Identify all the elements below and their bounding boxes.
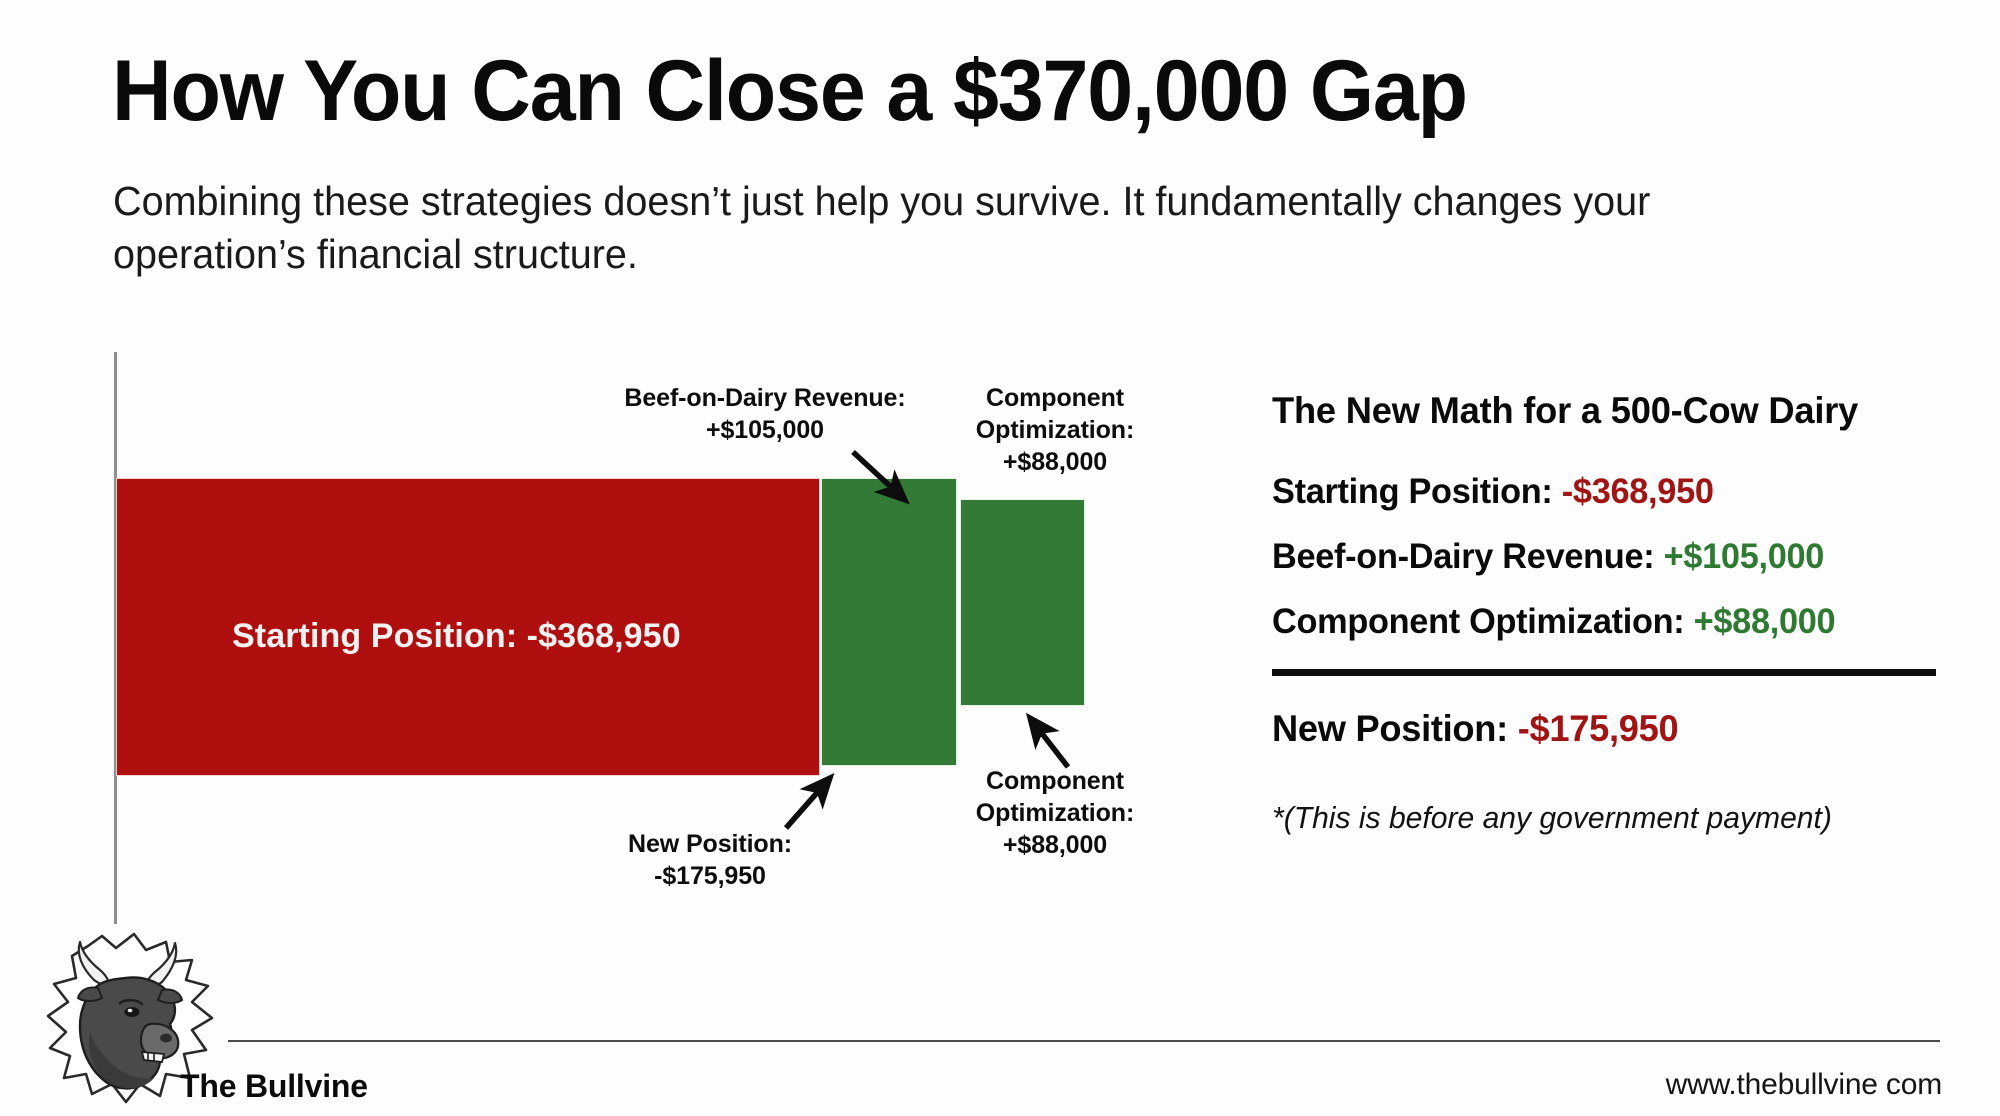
arrow-new-position-icon — [786, 778, 830, 828]
bar-beef-on-dairy-revenue — [821, 478, 957, 766]
annotation-beef-on-dairy-revenue: Beef-on-Dairy Revenue: +$105,000 — [600, 382, 930, 446]
annotation-component-bottom-line1: Component — [950, 765, 1160, 797]
annotation-beef-revenue-line2: +$105,000 — [600, 414, 930, 446]
arrow-component-optimization-icon — [1030, 718, 1068, 767]
summary-label-beef-on-dairy-revenue: Beef-on-Dairy Revenue: — [1272, 537, 1654, 576]
summary-row-starting-position: Starting Position: -$368,950 — [1272, 474, 1938, 509]
bar-starting-position-label: Starting Position: -$368,950 — [232, 617, 681, 656]
annotation-new-position-line2: -$175,950 — [600, 860, 820, 892]
waterfall-chart: Starting Position: -$368,950 Beef-on-Dai… — [0, 0, 1240, 1000]
infographic-canvas: How You Can Close a $370,000 Gap Combini… — [0, 0, 2000, 1116]
annotation-new-position: New Position: -$175,950 — [600, 828, 820, 892]
annotation-component-top-line3: +$88,000 — [945, 446, 1165, 478]
summary-divider — [1272, 669, 1936, 676]
annotation-component-bottom-line2: Optimization: — [950, 797, 1160, 829]
site-url[interactable]: www.thebullvine com — [1666, 1068, 1942, 1102]
summary-footnote: *(This is before any government payment) — [1272, 800, 1932, 836]
annotation-component-bottom-line3: +$88,000 — [950, 829, 1160, 861]
brand-name: The Bullvine — [180, 1068, 368, 1105]
summary-row-new-position: New Position: -$175,950 — [1272, 708, 1938, 750]
summary-label-new-position: New Position: — [1272, 708, 1508, 749]
summary-value-beef-on-dairy-revenue: +$105,000 — [1664, 537, 1824, 576]
summary-row-component-optimization: Component Optimization: +$88,000 — [1272, 604, 1938, 639]
summary-heading: The New Math for a 500-Cow Dairy — [1272, 390, 1938, 432]
summary-row-beef-on-dairy-revenue: Beef-on-Dairy Revenue: +$105,000 — [1272, 539, 1938, 574]
annotation-new-position-line1: New Position: — [600, 828, 820, 860]
summary-label-starting-position: Starting Position: — [1272, 472, 1553, 511]
annotation-component-optimization-bottom: Component Optimization: +$88,000 — [950, 765, 1160, 861]
summary-value-new-position: -$175,950 — [1518, 708, 1679, 749]
summary-value-component-optimization: +$88,000 — [1694, 602, 1836, 641]
annotation-component-optimization-top: Component Optimization: +$88,000 — [945, 382, 1165, 478]
annotation-beef-revenue-line1: Beef-on-Dairy Revenue: — [600, 382, 930, 414]
annotation-component-top-line1: Component — [945, 382, 1165, 414]
summary-label-component-optimization: Component Optimization: — [1272, 602, 1684, 641]
footer-divider — [228, 1040, 1940, 1042]
annotation-component-top-line2: Optimization: — [945, 414, 1165, 446]
summary-panel: The New Math for a 500-Cow Dairy Startin… — [1272, 390, 1952, 836]
summary-value-starting-position: -$368,950 — [1562, 472, 1714, 511]
bar-component-optimization — [960, 499, 1085, 706]
